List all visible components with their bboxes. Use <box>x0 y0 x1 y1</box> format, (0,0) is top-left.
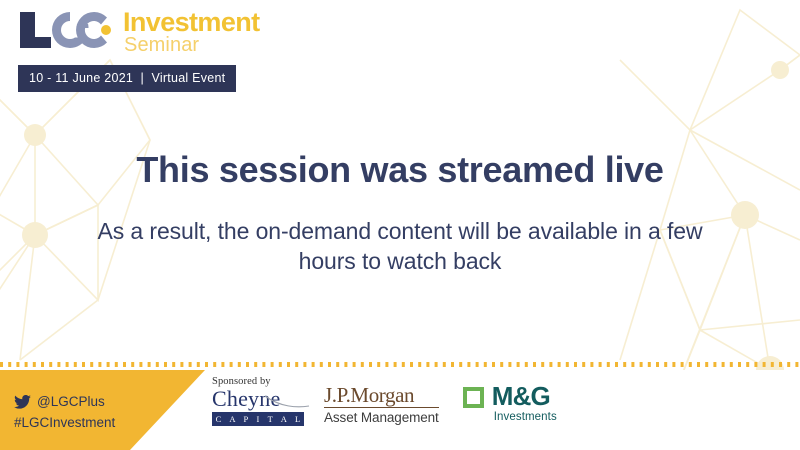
logo-lockup: Investment Seminar <box>18 8 348 55</box>
jpmorgan-tagline: Asset Management <box>324 410 439 425</box>
twitter-handle-text: @LGCPlus <box>37 392 105 412</box>
dotted-divider <box>0 362 800 367</box>
brand-header: Investment Seminar 10 - 11 June 2021 | V… <box>18 8 348 92</box>
twitter-handle-row[interactable]: @LGCPlus <box>14 392 115 412</box>
mandg-tagline: Investments <box>494 411 557 423</box>
cheyne-capital-badge: C A P I T A L <box>212 412 304 426</box>
event-date-banner: 10 - 11 June 2021 | Virtual Event <box>18 65 236 92</box>
presentation-slide: Investment Seminar 10 - 11 June 2021 | V… <box>0 0 800 450</box>
cheyne-swoosh-icon <box>264 395 310 409</box>
mandg-wordmark: M&G <box>492 383 557 409</box>
wordmark-investment: Investment <box>123 9 260 36</box>
slide-footer: @LGCPlus #LGCInvestment Sponsored by Che… <box>0 370 800 450</box>
mandg-square-icon <box>463 387 484 408</box>
social-handles: @LGCPlus #LGCInvestment <box>14 392 115 432</box>
event-hashtag[interactable]: #LGCInvestment <box>14 413 115 433</box>
page-title: This session was streamed live <box>0 150 800 190</box>
twitter-icon <box>14 395 31 409</box>
sponsor-logo-cheyne[interactable]: Sponsored by Cheyne C A P I T A L <box>212 376 304 426</box>
jpmorgan-wordmark: J.P.Morgan <box>324 384 439 408</box>
event-wordmark: Investment Seminar <box>123 9 260 55</box>
wordmark-seminar: Seminar <box>124 35 260 55</box>
main-message: This session was streamed live As a resu… <box>0 150 800 276</box>
lgc-logo-icon <box>18 10 114 50</box>
sponsor-logos: Sponsored by Cheyne C A P I T A L J.P.Mo… <box>212 376 557 426</box>
sponsor-logo-jpmorgan[interactable]: J.P.Morgan Asset Management <box>324 384 439 425</box>
subtitle-text: As a result, the on-demand content will … <box>80 216 720 277</box>
sponsor-logo-mandg[interactable]: M&G Investments <box>463 383 557 423</box>
mandg-text-block: M&G Investments <box>492 383 557 423</box>
